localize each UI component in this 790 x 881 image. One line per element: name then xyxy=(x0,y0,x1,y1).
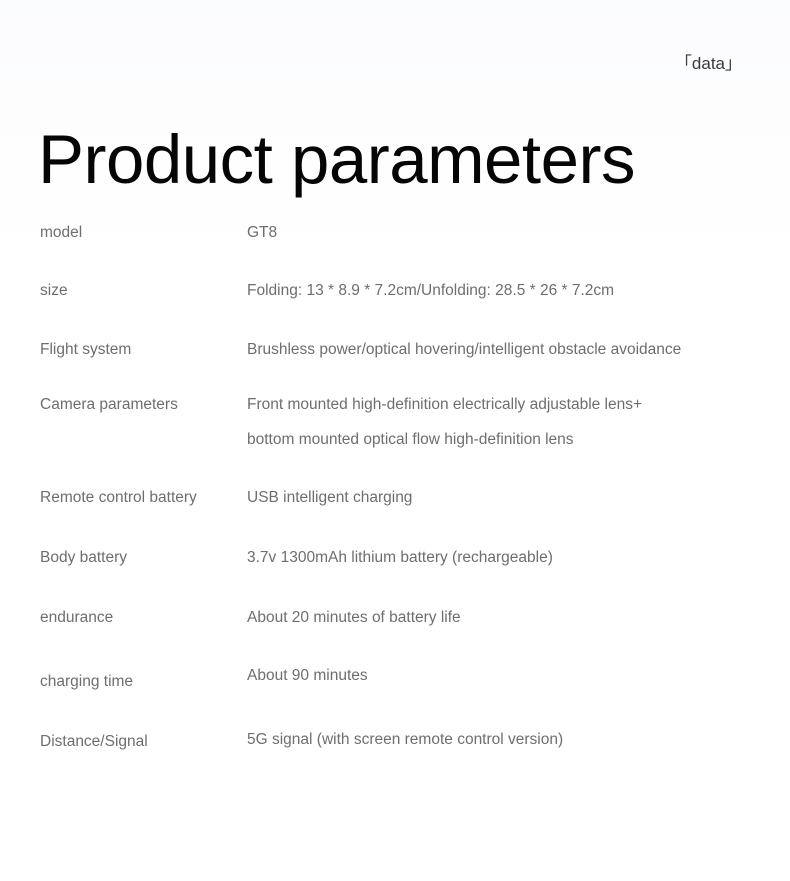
spec-value: 3.7v 1300mAh lithium battery (rechargeab… xyxy=(247,547,767,568)
spec-value-line: USB intelligent charging xyxy=(247,487,767,508)
spec-value: Folding: 13 * 8.9 * 7.2cm/Unfolding: 28.… xyxy=(247,280,767,301)
spec-value-line: About 90 minutes xyxy=(247,665,767,686)
spec-label: Distance/Signal xyxy=(40,731,240,752)
spec-value-line: About 20 minutes of battery life xyxy=(247,607,767,628)
spec-value-line: 5G signal (with screen remote control ve… xyxy=(247,729,767,750)
page-title: Product parameters xyxy=(38,122,635,198)
spec-label: endurance xyxy=(40,607,240,628)
spec-value: Front mounted high-definition electrical… xyxy=(247,394,767,450)
spec-value: 5G signal (with screen remote control ve… xyxy=(247,729,767,750)
spec-value: GT8 xyxy=(247,222,767,243)
spec-value-line: Folding: 13 * 8.9 * 7.2cm/Unfolding: 28.… xyxy=(247,280,767,301)
spec-value-line: Front mounted high-definition electrical… xyxy=(247,394,767,415)
spec-label: Body battery xyxy=(40,547,240,568)
spec-value-line: Brushless power/optical hovering/intelli… xyxy=(247,339,767,360)
spec-label: model xyxy=(40,222,240,243)
spec-value: About 20 minutes of battery life xyxy=(247,607,767,628)
spec-label: size xyxy=(40,280,240,301)
spec-value: Brushless power/optical hovering/intelli… xyxy=(247,339,767,360)
spec-label: charging time xyxy=(40,671,240,692)
spec-label: Remote control battery xyxy=(40,487,240,508)
spec-label: Flight system xyxy=(40,339,240,360)
spec-value-line: 3.7v 1300mAh lithium battery (rechargeab… xyxy=(247,547,767,568)
spec-value: About 90 minutes xyxy=(247,665,767,686)
product-parameters-page: 「data」 Product parameters modelGT8sizeFo… xyxy=(0,0,790,881)
data-corner-tag: 「data」 xyxy=(675,55,742,72)
spec-value-line: bottom mounted optical flow high-definit… xyxy=(247,429,767,450)
specifications-table: modelGT8sizeFolding: 13 * 8.9 * 7.2cm/Un… xyxy=(0,222,790,750)
spec-label: Camera parameters xyxy=(40,394,240,415)
spec-value: USB intelligent charging xyxy=(247,487,767,508)
spec-value-line: GT8 xyxy=(247,222,767,243)
